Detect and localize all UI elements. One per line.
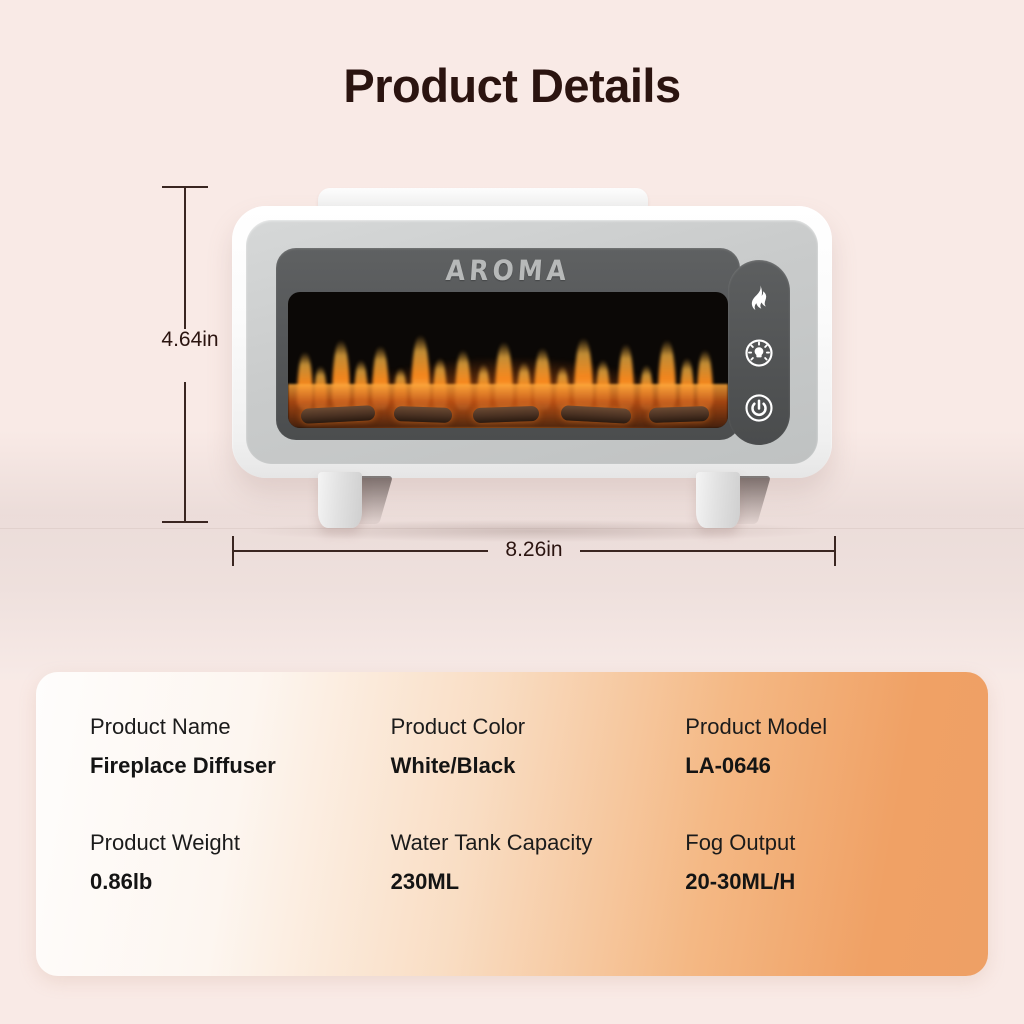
spec-item-product-name: Product Name Fireplace Diffuser (64, 714, 363, 830)
height-stem-upper (184, 187, 186, 329)
fireplace-bezel: AROMA (276, 248, 740, 440)
control-panel (728, 260, 790, 445)
spec-value: White/Black (391, 753, 662, 779)
device-front-panel: AROMA (246, 220, 818, 464)
page-title: Product Details (0, 58, 1024, 113)
power-button[interactable] (741, 390, 777, 426)
light-button[interactable] (741, 335, 777, 371)
power-icon (744, 393, 774, 423)
spec-label: Fog Output (685, 830, 960, 856)
spec-value: LA-0646 (685, 753, 960, 779)
light-bulb-icon (744, 338, 774, 368)
height-stem-lower (184, 382, 186, 522)
spec-item-product-color: Product Color White/Black (363, 714, 662, 830)
device-leg-right (696, 472, 740, 528)
spec-value: 230ML (391, 869, 662, 895)
flame-button[interactable] (741, 280, 777, 316)
specification-card: Product Name Fireplace Diffuser Product … (36, 672, 988, 976)
height-dimension: 4.64in (162, 186, 218, 523)
flame-display-screen (288, 292, 728, 428)
spec-item-product-model: Product Model LA-0646 (661, 714, 960, 830)
width-rail-right (580, 550, 835, 552)
product-image: AROMA (232, 188, 832, 528)
spec-item-product-weight: Product Weight 0.86lb (64, 830, 363, 946)
spec-label: Water Tank Capacity (391, 830, 662, 856)
spec-item-fog-output: Fog Output 20-30ML/H (661, 830, 960, 946)
width-cap-right (834, 536, 836, 566)
spec-row: Product Weight 0.86lb Water Tank Capacit… (64, 830, 960, 946)
spec-row: Product Name Fireplace Diffuser Product … (64, 714, 960, 830)
spec-value: Fireplace Diffuser (90, 753, 363, 779)
spec-value: 0.86lb (90, 869, 363, 895)
device-leg-left (318, 472, 362, 528)
spec-value: 20-30ML/H (685, 869, 960, 895)
spec-label: Product Model (685, 714, 960, 740)
spec-item-water-tank-capacity: Water Tank Capacity 230ML (363, 830, 662, 946)
height-cap-bottom (162, 521, 208, 523)
flame-icon (744, 283, 774, 313)
brand-logo-text: AROMA (275, 254, 741, 286)
spec-label: Product Name (90, 714, 363, 740)
width-dimension: 8.26in (232, 536, 836, 570)
spec-label: Product Weight (90, 830, 363, 856)
device-body: AROMA (232, 206, 832, 478)
width-rail-left (233, 550, 488, 552)
height-dimension-label: 4.64in (152, 328, 228, 352)
spec-label: Product Color (391, 714, 662, 740)
